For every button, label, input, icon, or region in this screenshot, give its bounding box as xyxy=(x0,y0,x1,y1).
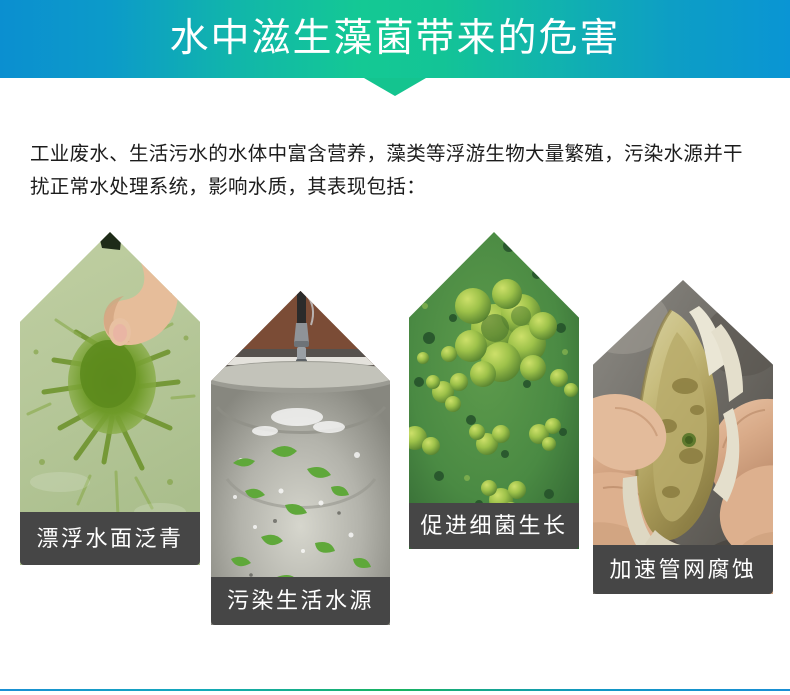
hazard-card-label: 促进细菌生长 xyxy=(409,503,579,549)
bacteria-micrograph-photo xyxy=(409,232,579,549)
hazard-card-polluted-water-source[interactable]: 污染生活水源 xyxy=(211,291,390,625)
bottom-gradient-rule xyxy=(0,689,790,691)
header-notch-triangle xyxy=(364,78,426,96)
hazard-card-floating-algae[interactable]: 漂浮水面泛青 xyxy=(20,232,200,565)
intro-paragraph: 工业废水、生活污水的水体中富含营养，藻类等浮游生物大量繁殖，污染水源并干扰正常水… xyxy=(30,138,760,204)
hazard-card-pipe-corrosion[interactable]: 加速管网腐蚀 xyxy=(593,280,773,594)
hazard-card-bacteria-growth[interactable]: 促进细菌生长 xyxy=(409,232,579,549)
page-title: 水中滋生藻菌带来的危害 xyxy=(0,0,790,78)
hazard-card-label: 加速管网腐蚀 xyxy=(593,545,773,594)
sink-faucet-photo xyxy=(211,291,390,625)
hazard-card-label: 漂浮水面泛青 xyxy=(20,512,200,565)
hazard-card-label: 污染生活水源 xyxy=(211,577,390,625)
